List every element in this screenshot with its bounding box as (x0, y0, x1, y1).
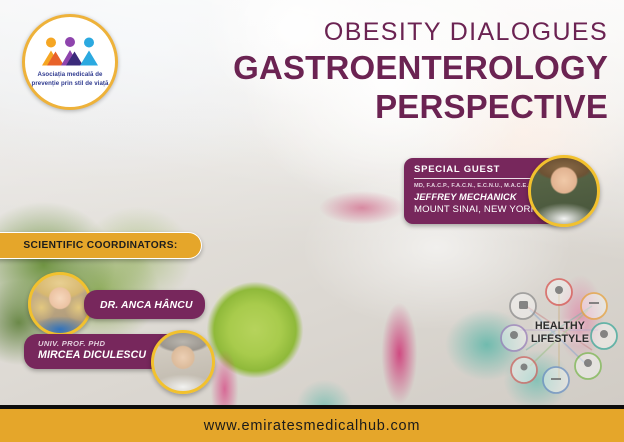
scientific-coordinators-bar: SCIENTIFIC COORDINATORS: (0, 232, 202, 259)
logo-org-name: Asociația medicală de prevenție prin sti… (29, 71, 111, 87)
association-logo: Asociația medicală de prevenție prin sti… (22, 14, 118, 110)
coordinator-name-pill: DR. ANCA HÂNCU (84, 290, 205, 319)
infographic-title-line-1: HEALTHY (514, 320, 606, 333)
infographic-title: HEALTHY LIFESTYLE (514, 320, 606, 345)
avatar (528, 155, 600, 227)
three-people-logo-icon (39, 36, 101, 68)
avatar (28, 272, 92, 336)
healthy-lifestyle-infographic: HEALTHY LIFESTYLE (496, 278, 622, 398)
scientific-coordinators-label: SCIENTIFIC COORDINATORS: (9, 240, 177, 251)
coordinator-name: MIRCEA DICULESCU (38, 349, 146, 363)
coordinator-name: DR. ANCA HÂNCU (100, 300, 193, 311)
page-title: OBESITY DIALOGUES GASTROENTEROLOGY PERSP… (233, 18, 608, 127)
coordinator-role: UNIV. PROF. PHD (38, 339, 146, 349)
footer-bar: www.emiratesmedicalhub.com (0, 409, 624, 442)
title-line-1: GASTROENTEROLOGY (233, 49, 608, 88)
promotional-poster: Asociația medicală de prevenție prin sti… (0, 0, 624, 442)
website-url[interactable]: www.emiratesmedicalhub.com (204, 418, 421, 434)
title-line-2: PERSPECTIVE (233, 88, 608, 127)
title-kicker: OBESITY DIALOGUES (233, 18, 608, 46)
avatar (151, 330, 215, 394)
infographic-title-line-2: LIFESTYLE (514, 333, 606, 346)
